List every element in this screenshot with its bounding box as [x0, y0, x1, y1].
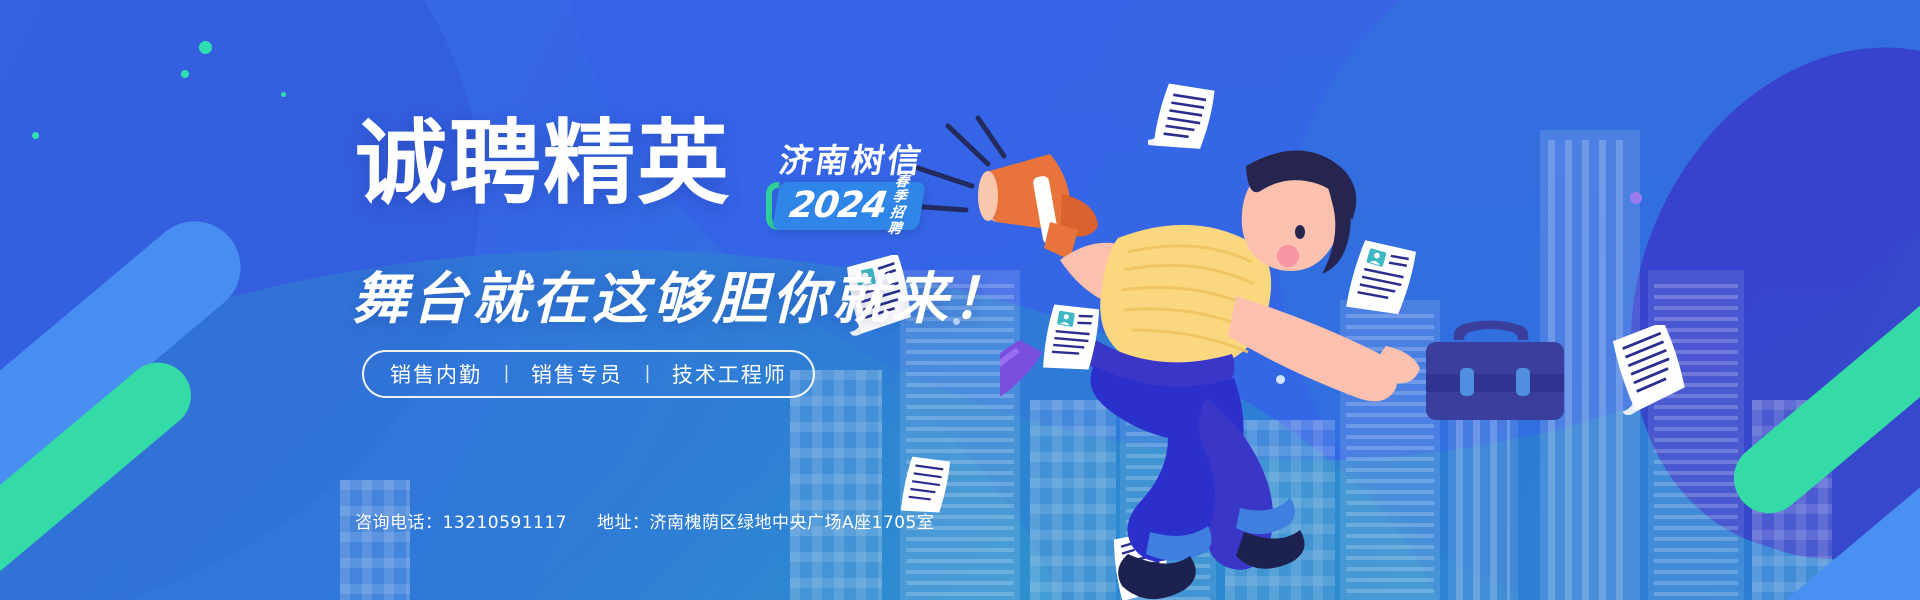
address-label: 地址：: [597, 513, 650, 533]
banner-text-layer: 诚聘精英 济南树信 2024 春季 招聘 舞台就在这够胆你就来！ 销售内勤 | …: [0, 0, 1920, 600]
position-separator: |: [504, 363, 509, 385]
badge-year: 2024: [787, 188, 889, 224]
position-item-2[interactable]: 销售专员: [531, 359, 623, 389]
address-value: 济南槐荫区绿地中央广场A座1705室: [649, 513, 934, 533]
page-title: 诚聘精英: [355, 118, 731, 210]
badge-season-text: 春季 招聘: [886, 175, 911, 238]
contact-info: 咨询电话：13210591117 地址：济南槐荫区绿地中央广场A座1705室: [355, 508, 934, 533]
position-item-3[interactable]: 技术工程师: [672, 359, 787, 389]
phone-label: 咨询电话：: [355, 513, 443, 533]
position-item-1[interactable]: 销售内勤: [390, 359, 482, 389]
address-block: 地址：济南槐荫区绿地中央广场A座1705室: [597, 508, 934, 533]
phone-number: 13210591117: [443, 513, 567, 533]
position-separator: |: [645, 363, 650, 385]
phone-block: 咨询电话：13210591117: [355, 508, 567, 533]
subtitle: 舞台就在这够胆你就来！: [352, 254, 1012, 335]
positions-pill: 销售内勤 | 销售专员 | 技术工程师: [362, 350, 815, 398]
recruitment-banner: 诚聘精英 济南树信 2024 春季 招聘 舞台就在这够胆你就来！ 销售内勤 | …: [0, 0, 1920, 600]
badge-line-2: 招聘: [886, 206, 906, 237]
badge-body: 2024 春季 招聘: [772, 182, 926, 230]
